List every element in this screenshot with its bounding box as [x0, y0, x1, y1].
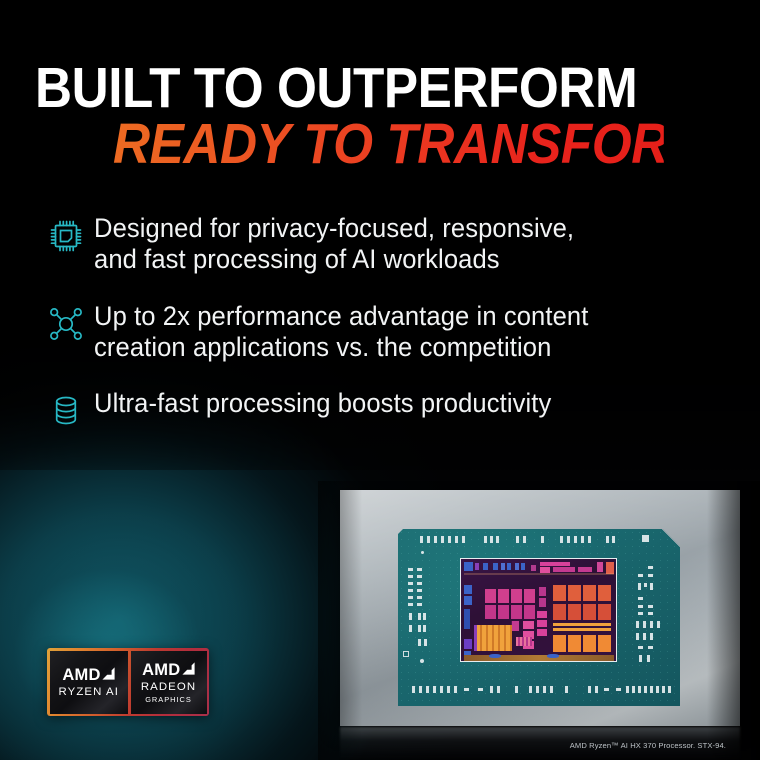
amd-arrow-icon: [102, 667, 115, 684]
amd-logo-radeon: AMD: [142, 662, 195, 679]
amd-badge-group: AMD RYZEN AI AMD RADEON GRAPHICS: [47, 648, 209, 716]
amd-radeon-label: RADEON: [141, 682, 196, 693]
feature-bullet-3-text: Ultra-fast processing boosts productivit…: [94, 387, 551, 419]
amd-wordmark: AMD: [62, 667, 100, 684]
amd-wordmark: AMD: [142, 662, 180, 679]
feature-bullet-1-line-1: Designed for privacy-focused, responsive…: [94, 213, 574, 244]
chip-metal-frame: [340, 490, 740, 726]
product-chip-photo: AMD Ryzen™ AI HX 370 Processor. STX-94.: [318, 481, 760, 760]
amd-logo-ryzen: AMD: [62, 667, 115, 684]
chip-substrate: [398, 529, 680, 706]
amd-ryzen-ai-label: RYZEN AI: [59, 687, 120, 698]
feature-bullet-1-text: Designed for privacy-focused, responsive…: [94, 212, 574, 274]
product-caption: AMD Ryzen™ AI HX 370 Processor. STX-94.: [570, 741, 726, 750]
amd-radeon-graphics-badge: AMD RADEON GRAPHICS: [131, 651, 207, 714]
headline: BUILT TO OUTPERFORM READY TO TRANSFORM: [35, 62, 725, 171]
processor-die: [460, 558, 617, 662]
cpu-chip-icon: [38, 212, 94, 268]
headline-line-2: READY TO TRANSFORM: [113, 118, 664, 170]
network-nodes-icon: [38, 300, 94, 356]
feature-bullet-2-line-2: creation applications vs. the competitio…: [94, 332, 588, 363]
feature-bullet-2-line-1: Up to 2x performance advantage in conten…: [94, 301, 588, 332]
feature-bullet-2-text: Up to 2x performance advantage in conten…: [94, 300, 588, 362]
feature-bullet-list: Designed for privacy-focused, responsive…: [38, 212, 718, 443]
promo-canvas: BUILT TO OUTPERFORM READY TO TRANSFORM: [0, 0, 760, 760]
amd-arrow-icon: [182, 662, 195, 679]
background-teal-glow-inner: [0, 470, 360, 760]
feature-bullet-3-line-1: Ultra-fast processing boosts productivit…: [94, 388, 551, 419]
feature-bullet-3: Ultra-fast processing boosts productivit…: [38, 387, 718, 443]
amd-graphics-label: GRAPHICS: [145, 696, 192, 703]
amd-ryzen-ai-badge: AMD RYZEN AI: [50, 651, 129, 714]
headline-line-1: BUILT TO OUTPERFORM: [35, 62, 656, 114]
feature-bullet-1: Designed for privacy-focused, responsive…: [38, 212, 718, 274]
feature-bullet-2: Up to 2x performance advantage in conten…: [38, 300, 718, 362]
database-stack-icon: [38, 387, 94, 443]
feature-bullet-1-line-2: and fast processing of AI workloads: [94, 244, 574, 275]
